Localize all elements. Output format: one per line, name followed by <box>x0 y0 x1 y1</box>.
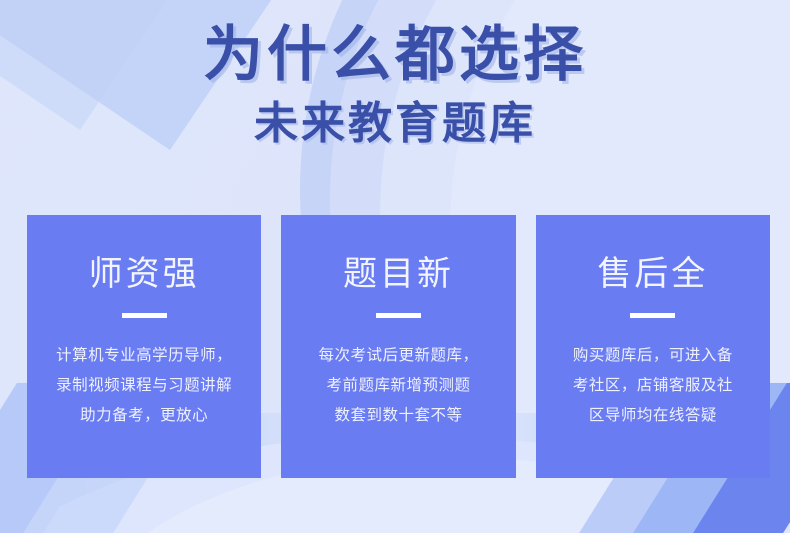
feature-card-description-line: 录制视频课程与习题讲解 <box>56 370 232 400</box>
feature-card-title: 师资强 <box>89 257 200 291</box>
feature-card-description-line: 考社区，店铺客服及社 <box>573 370 733 400</box>
banner-headings: 为什么都选择 未来教育题库 <box>0 0 790 148</box>
feature-card-description-line: 助力备考，更放心 <box>56 400 232 430</box>
banner-title-sub: 未来教育题库 <box>0 100 790 148</box>
feature-card-description-line: 购买题库后，可进入备 <box>573 340 733 370</box>
feature-card-description-line: 计算机专业高学历导师， <box>56 340 232 370</box>
promo-banner: 为什么都选择 未来教育题库 师资强 计算机专业高学历导师， 录制视频课程与习题讲… <box>0 0 790 535</box>
feature-card-divider <box>376 313 421 318</box>
feature-card-support: 售后全 购买题库后，可进入备 考社区，店铺客服及社 区导师均在线答疑 <box>536 215 770 478</box>
feature-card-list: 师资强 计算机专业高学历导师， 录制视频课程与习题讲解 助力备考，更放心 题目新… <box>27 215 770 478</box>
feature-card-description-line: 区导师均在线答疑 <box>573 400 733 430</box>
feature-card-title: 售后全 <box>597 257 708 291</box>
feature-card-divider <box>122 313 167 318</box>
feature-card-teachers: 师资强 计算机专业高学历导师， 录制视频课程与习题讲解 助力备考，更放心 <box>27 215 261 478</box>
feature-card-description-line: 每次考试后更新题库， <box>318 340 478 370</box>
feature-card-description-line: 考前题库新增预测题 <box>318 370 478 400</box>
feature-card-title: 题目新 <box>343 257 454 291</box>
feature-card-questions: 题目新 每次考试后更新题库， 考前题库新增预测题 数套到数十套不等 <box>281 215 515 478</box>
feature-card-description-line: 数套到数十套不等 <box>318 400 478 430</box>
banner-title-main: 为什么都选择 <box>0 22 790 88</box>
feature-card-description: 每次考试后更新题库， 考前题库新增预测题 数套到数十套不等 <box>300 340 496 431</box>
feature-card-description: 计算机专业高学历导师， 录制视频课程与习题讲解 助力备考，更放心 <box>38 340 250 431</box>
feature-card-divider <box>630 313 675 318</box>
feature-card-description: 购买题库后，可进入备 考社区，店铺客服及社 区导师均在线答疑 <box>555 340 751 431</box>
